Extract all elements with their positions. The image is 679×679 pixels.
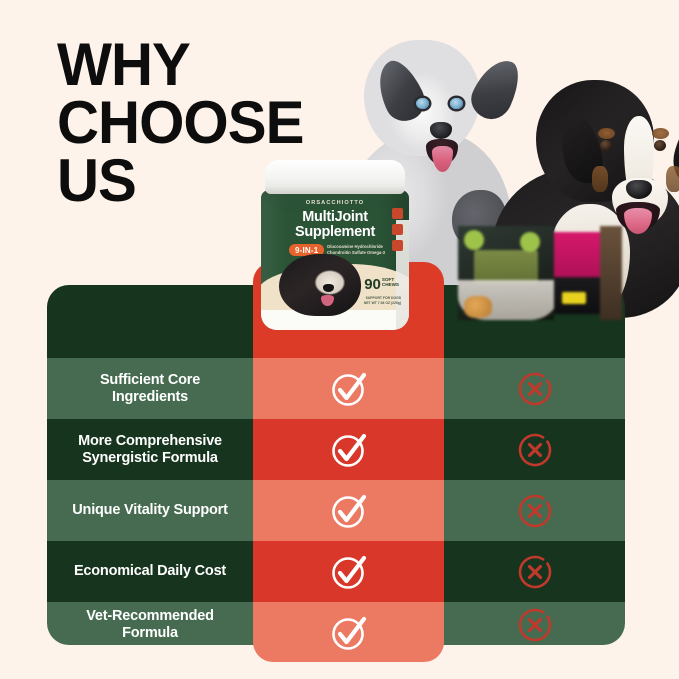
competitor-badge — [464, 230, 484, 250]
berner-tongue — [624, 208, 652, 234]
competitor-package-accent — [562, 292, 586, 304]
competitor-products-image — [458, 226, 622, 320]
competitor-package-brown — [600, 226, 622, 320]
feature-label: More Comprehensive Synergistic Formula — [47, 419, 253, 480]
theirs-cell — [444, 541, 625, 602]
berner-tan-marking — [666, 166, 679, 192]
table-row: Unique Vitality Support — [47, 480, 625, 541]
ours-cell — [253, 602, 444, 645]
theirs-cell — [444, 358, 625, 419]
jar-benefit-icon — [392, 240, 403, 251]
cross-circle-icon — [515, 369, 555, 409]
ours-cell — [253, 541, 444, 602]
jar-benefit-icon — [392, 208, 403, 219]
theirs-cell — [444, 602, 625, 645]
berner-mouth — [616, 202, 660, 232]
berner-nose — [626, 180, 652, 199]
collie-ear-right — [465, 53, 527, 126]
collie-nose — [430, 122, 452, 139]
collie-head — [364, 40, 480, 156]
feature-label: Unique Vitality Support — [47, 480, 253, 541]
table-row: Economical Daily Cost — [47, 541, 625, 602]
ours-cell — [253, 480, 444, 541]
jar-lid — [265, 160, 405, 194]
collie-mouth — [426, 139, 458, 165]
theirs-cell — [444, 419, 625, 480]
competitor-kibble — [464, 296, 492, 318]
table-row: Vet-Recommended Formula — [47, 602, 625, 645]
collie-eye-right — [450, 98, 463, 109]
jar-count-unit: SOFT CHEWS — [382, 277, 399, 288]
competitor-package-label — [474, 250, 538, 284]
feature-label: Vet-Recommended Formula — [47, 602, 253, 645]
jar-fine-print: SUPPORT FOR DOGS NET WT 7.94 OZ (225g) — [364, 296, 401, 306]
jar-benefit-icon — [392, 224, 403, 235]
cross-circle-icon — [515, 430, 555, 470]
berner-eye-right — [654, 140, 666, 151]
feature-label: Sufficient Core Ingredients — [47, 358, 253, 419]
infographic-canvas: WHY CHOOSE US — [0, 0, 679, 679]
berner-ear-right — [668, 110, 679, 187]
feature-label: Economical Daily Cost — [47, 541, 253, 602]
berner-face-blaze — [624, 116, 654, 208]
jar-benefit-icons — [392, 208, 403, 251]
bottom-margin — [0, 662, 679, 679]
jar-count-number: 90 — [364, 276, 381, 293]
comparison-table: Sufficient Core Ingredients More Compreh… — [47, 285, 625, 645]
jar-body: ORSACCHIOTTO MultiJoint Supplement 9-IN-… — [261, 190, 409, 330]
berner-ear-left — [554, 110, 608, 187]
berner-brow-right — [652, 128, 669, 139]
theirs-cell — [444, 480, 625, 541]
berner-eye-left — [600, 140, 612, 151]
cross-circle-icon — [515, 552, 555, 592]
jar-dog-photo — [279, 254, 361, 316]
cross-circle-icon — [515, 491, 555, 531]
collie-tongue — [432, 146, 453, 172]
table-row: Sufficient Core Ingredients — [47, 358, 625, 419]
ours-cell — [253, 358, 444, 419]
ours-cell — [253, 419, 444, 480]
collie-ear-left — [368, 54, 431, 127]
berner-tan-marking — [592, 166, 608, 192]
cross-circle-icon — [515, 605, 555, 645]
berner-brow-left — [598, 128, 615, 139]
competitor-badge — [520, 232, 540, 252]
jar-count: 90SOFT CHEWS — [364, 277, 399, 292]
berner-muzzle — [612, 178, 668, 226]
collie-eye-left — [416, 98, 429, 109]
jar-product-name: MultiJoint Supplement — [261, 210, 409, 240]
berner-head — [536, 80, 654, 202]
table-row: More Comprehensive Synergistic Formula — [47, 419, 625, 480]
product-jar-image: ORSACCHIOTTO MultiJoint Supplement 9-IN-… — [261, 160, 409, 330]
jar-brand-name: ORSACCHIOTTO — [261, 200, 409, 206]
